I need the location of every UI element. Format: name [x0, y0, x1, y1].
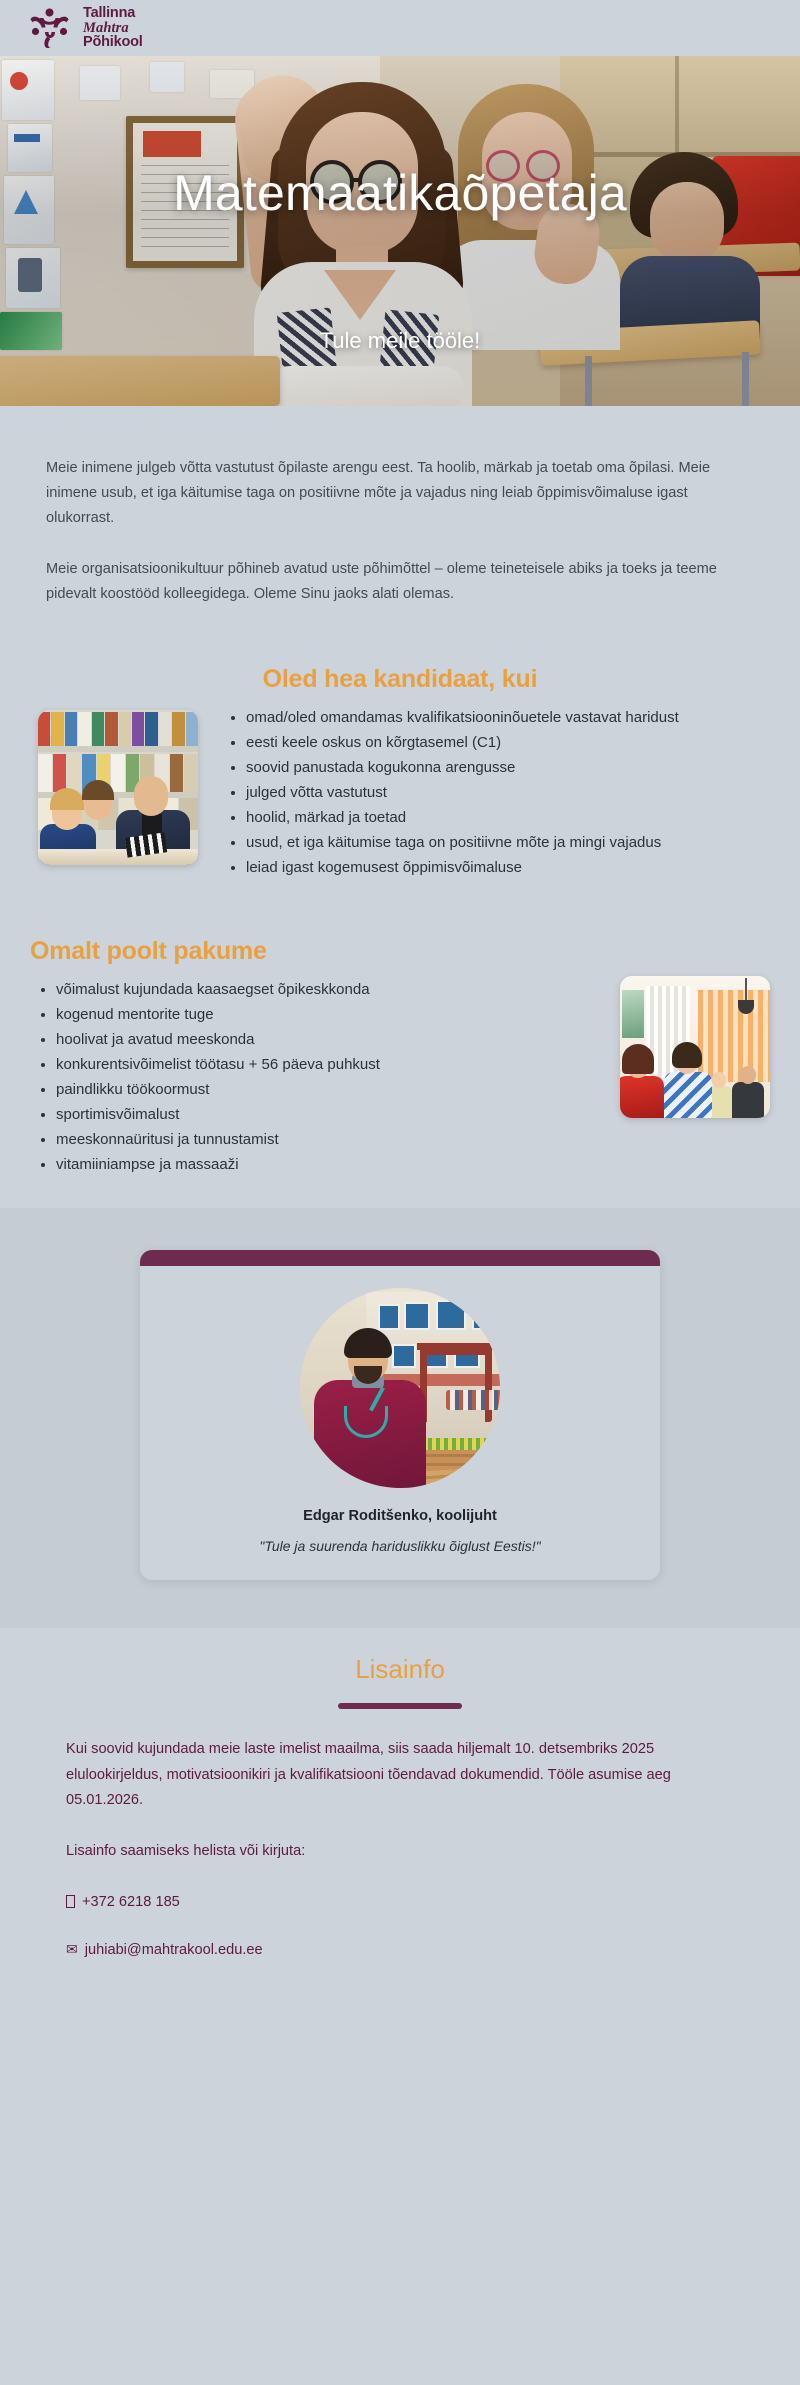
job-posting-page: Tallinna Mahtra Põhikool [0, 0, 800, 2385]
phone-line[interactable]: +372 6218 185 [50, 1890, 750, 1915]
list-item: soovid panustada kogukonna arengusse [246, 756, 679, 780]
page-header: Tallinna Mahtra Põhikool [0, 0, 800, 56]
people-logo-icon [28, 7, 72, 49]
list-item: sportimisvõimalust [56, 1103, 596, 1127]
testimonial-card: Edgar Roditšenko, koolijuht "Tule ja suu… [140, 1250, 660, 1580]
intro-paragraph-1: Meie inimene julgeb võtta vastutust õpil… [46, 456, 746, 531]
contact-intro: Lisainfo saamiseks helista või kirjuta: [50, 1839, 750, 1864]
logo-line-2: Mahtra [83, 21, 143, 36]
logo-line-3: Põhikool [83, 35, 143, 50]
list-item: kogenud mentorite tuge [56, 1003, 596, 1027]
school-logo-text: Tallinna Mahtra Põhikool [83, 6, 143, 50]
candidate-requirements-list: omad/oled omandamas kvalifikatsiooninõue… [220, 706, 679, 881]
testimonial-quote: "Tule ja suurenda hariduslikku õiglust E… [166, 1538, 634, 1554]
info-paragraph: Kui soovid kujundada meie laste imelist … [50, 1737, 750, 1812]
intro-section: Meie inimene julgeb võtta vastutust õpil… [0, 406, 800, 643]
envelope-icon: ✉ [66, 1937, 78, 1961]
offer-section: Omalt poolt pakume võimalust kujundada k… [0, 915, 800, 1208]
card-accent-bar [140, 1250, 660, 1266]
list-item: usud, et iga käitumise taga on positiivn… [246, 831, 679, 855]
list-item: hoolivat ja avatud meeskonda [56, 1028, 596, 1052]
avatar [300, 1288, 500, 1488]
list-item: konkurentsivõimelist töötasu + 56 päeva … [56, 1053, 596, 1077]
list-item: võimalust kujundada kaasaegset õpikeskko… [56, 978, 596, 1002]
hero-subtitle: Tule meile tööle! [0, 328, 800, 354]
phone-icon [66, 1895, 75, 1908]
list-item: julged võtta vastutust [246, 781, 679, 805]
intro-paragraph-2: Meie organisatsioonikultuur põhineb avat… [46, 557, 746, 607]
library-photo [38, 710, 198, 865]
additional-info-section: Lisainfo Kui soovid kujundada meie laste… [0, 1628, 800, 2045]
list-item: paindlikku töökoormust [56, 1078, 596, 1102]
phone-number[interactable]: +372 6218 185 [82, 1890, 180, 1915]
hero-banner: Matemaatikaõpetaja Tule meile tööle! [0, 56, 800, 406]
list-item: meeskonnaüritusi ja tunnustamist [56, 1128, 596, 1152]
candidate-heading: Oled hea kandidaat, kui [263, 665, 538, 693]
school-logo[interactable]: Tallinna Mahtra Põhikool [28, 6, 143, 50]
candidate-section: Oled hea kandidaat, kui [0, 643, 800, 915]
list-item: leiad igast kogemusest õppimisvõimaluse [246, 856, 679, 880]
offer-heading: Omalt poolt pakume [30, 937, 267, 965]
offer-benefits-list: võimalust kujundada kaasaegset õpikeskko… [30, 976, 596, 1178]
list-item: vitamiiniampse ja massaaži [56, 1153, 596, 1177]
email-address[interactable]: juhiabi@mahtrakool.edu.ee [85, 1938, 263, 1963]
testimonial-section: Edgar Roditšenko, koolijuht "Tule ja suu… [0, 1208, 800, 1628]
list-item: eesti keele oskus on kõrgtasemel (C1) [246, 731, 679, 755]
info-heading: Lisainfo [30, 1654, 770, 1685]
testimonial-name: Edgar Roditšenko, koolijuht [166, 1508, 634, 1524]
hero-title: Matemaatikaõpetaja [0, 164, 800, 222]
list-item: hoolid, märkad ja toetad [246, 806, 679, 830]
staff-room-photo [620, 976, 770, 1118]
list-item: omad/oled omandamas kvalifikatsiooninõue… [246, 706, 679, 730]
logo-line-1: Tallinna [83, 6, 143, 21]
email-line[interactable]: ✉ juhiabi@mahtrakool.edu.ee [50, 1937, 750, 1963]
info-divider [338, 1703, 462, 1709]
